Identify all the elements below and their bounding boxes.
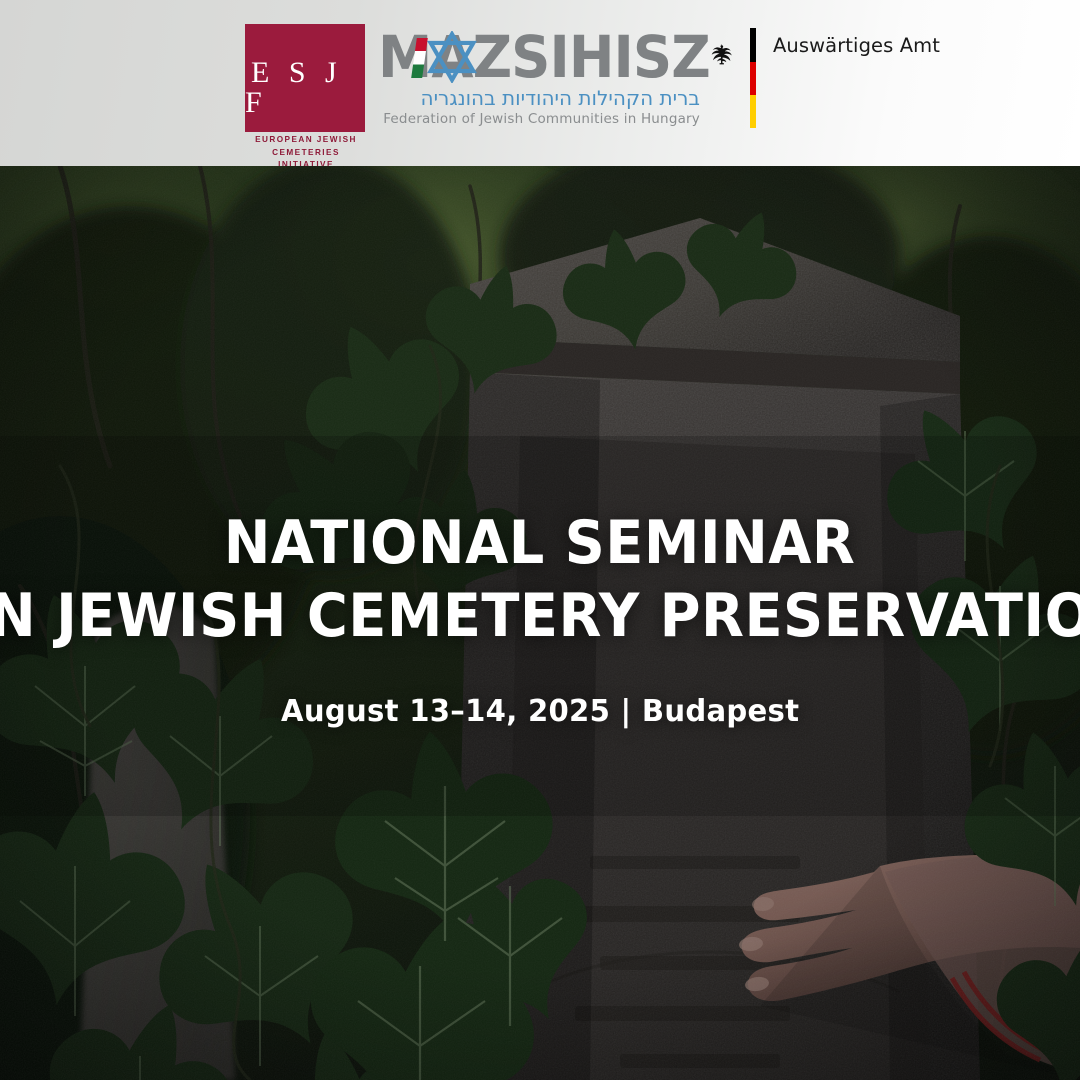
seminar-date-location: August 13–14, 2025 | Budapest bbox=[281, 694, 799, 729]
bundesadler-eagle-icon bbox=[710, 32, 734, 78]
hero-text-overlay: NATIONAL SEMINAR ON JEWISH CEMETERY PRES… bbox=[0, 166, 1080, 1080]
auswaertiges-amt-logo: Auswärtiges Amt bbox=[710, 28, 940, 132]
german-flag-bar-icon bbox=[750, 28, 756, 128]
mazsihisz-english-name: Federation of Jewish Communities in Hung… bbox=[378, 111, 700, 127]
seminar-title-line-2: ON JEWISH CEMETERY PRESERVATION bbox=[0, 584, 1080, 648]
esjf-monogram: E S J F bbox=[245, 58, 365, 132]
esjf-logo: E S J F EUROPEAN JEWISH CEMETERIES INITI… bbox=[245, 24, 365, 148]
event-poster: E S J F EUROPEAN JEWISH CEMETERIES INITI… bbox=[0, 0, 1080, 1080]
esjf-logo-mark: E S J F bbox=[245, 24, 365, 132]
seminar-title-line-1: NATIONAL SEMINAR bbox=[224, 511, 856, 575]
mazsihisz-logo: MAZSIHISZ ברית הקהילות היהודיות בהונגריה… bbox=[378, 26, 700, 138]
esjf-tagline-line-1: EUROPEAN JEWISH bbox=[245, 134, 367, 147]
auswaertiges-amt-label: Auswärtiges Amt bbox=[773, 34, 940, 57]
mazsihisz-wordmark-row: MAZSIHISZ bbox=[378, 26, 700, 88]
sponsor-logo-band: E S J F EUROPEAN JEWISH CEMETERIES INITI… bbox=[0, 0, 1080, 166]
star-of-david-icon bbox=[425, 31, 479, 83]
